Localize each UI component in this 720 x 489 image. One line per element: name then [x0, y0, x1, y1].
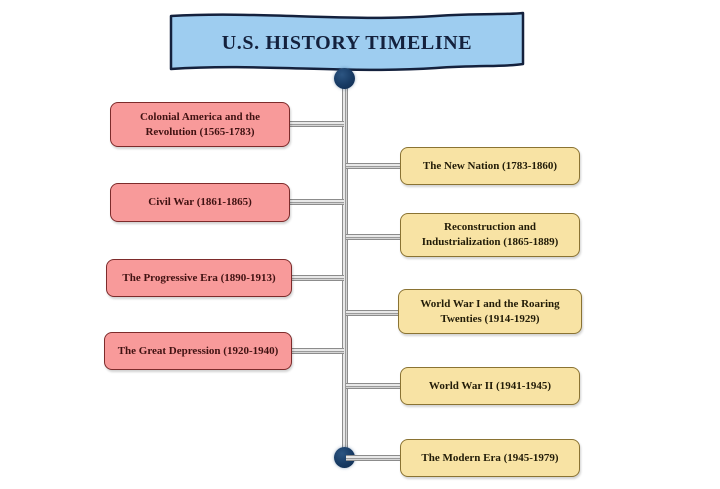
connector-right-2 — [346, 234, 402, 240]
connector-left-3 — [288, 275, 344, 281]
connector-right-3 — [346, 310, 402, 316]
event-box-modern-era[interactable]: The Modern Era (1945-1979) — [400, 439, 580, 477]
event-box-reconstruction[interactable]: Reconstruction and Industrialization (18… — [400, 213, 580, 257]
connector-left-2 — [288, 199, 344, 205]
event-box-world-war-two[interactable]: World War II (1941-1945) — [400, 367, 580, 405]
event-box-new-nation[interactable]: The New Nation (1783-1860) — [400, 147, 580, 185]
connector-left-4 — [288, 348, 344, 354]
page-title: U.S. HISTORY TIMELINE — [168, 10, 526, 74]
connector-right-4 — [346, 383, 402, 389]
connector-left-1 — [288, 121, 344, 127]
timeline-spine — [342, 76, 348, 458]
event-box-progressive-era[interactable]: The Progressive Era (1890-1913) — [106, 259, 292, 297]
event-box-world-war-one[interactable]: World War I and the Roaring Twenties (19… — [398, 289, 582, 334]
event-box-civil-war[interactable]: Civil War (1861-1865) — [110, 183, 290, 222]
event-box-colonial-america[interactable]: Colonial America and the Revolution (156… — [110, 102, 290, 147]
connector-right-5 — [346, 455, 402, 461]
timeline-start-node — [334, 68, 355, 89]
connector-right-1 — [346, 163, 402, 169]
event-box-great-depression[interactable]: The Great Depression (1920-1940) — [104, 332, 292, 370]
timeline-diagram: U.S. HISTORY TIMELINE Colonial America a… — [0, 0, 720, 489]
title-banner: U.S. HISTORY TIMELINE — [168, 10, 526, 74]
